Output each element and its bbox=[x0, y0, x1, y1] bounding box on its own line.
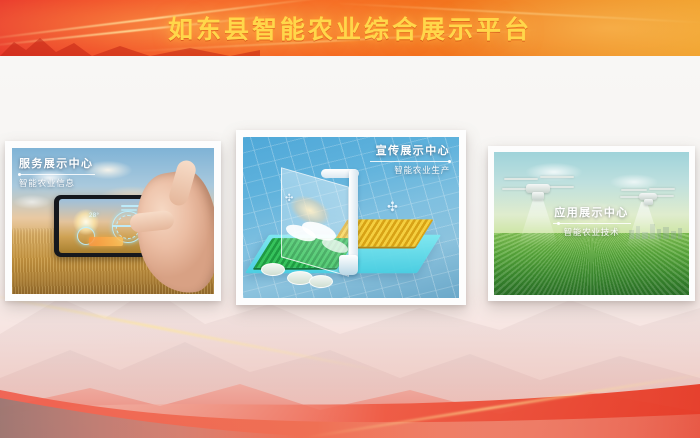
caption-rule bbox=[553, 223, 631, 224]
page-title: 如东县智能农业综合展示平台 bbox=[0, 0, 700, 56]
card-service-center-title: 服务展示中心 bbox=[19, 155, 95, 171]
drone-icon: ✣ bbox=[387, 199, 398, 215]
hud-bar bbox=[121, 209, 137, 211]
hay-bale-graphic bbox=[261, 263, 285, 276]
hay-bale-graphic bbox=[309, 275, 333, 288]
card-publicity-center-title: 宣传展示中心 bbox=[370, 142, 450, 158]
card-application-center[interactable]: 应用展示中心 智能农业技术 bbox=[488, 146, 695, 301]
hud-temperature-label: 28° bbox=[89, 213, 99, 219]
caption-rule bbox=[370, 161, 450, 162]
caption-rule bbox=[19, 174, 95, 175]
light-pole-graphic bbox=[349, 169, 358, 265]
poster-stage: 如东县智能农业综合展示平台 28° bbox=[0, 0, 700, 438]
hud-chip-bar bbox=[89, 237, 123, 246]
card-publicity-center-caption: 宣传展示中心 智能农业生产 bbox=[370, 142, 450, 176]
card-service-center-caption: 服务展示中心 智能农业信息 bbox=[19, 155, 95, 189]
card-publicity-center-subtitle: 智能农业生产 bbox=[370, 164, 450, 176]
drone-large-icon bbox=[502, 174, 578, 204]
card-application-center-caption: 应用展示中心 智能农业技术 bbox=[488, 204, 695, 238]
cloud-graphic bbox=[322, 236, 348, 255]
drone-icon: ✣ bbox=[285, 193, 293, 204]
card-application-center-subtitle: 智能农业技术 bbox=[488, 226, 695, 238]
water-bucket-graphic bbox=[339, 255, 358, 275]
card-publicity-center[interactable]: ✣ ✣ 宣传展示中心 智能农业生产 bbox=[236, 130, 466, 305]
card-application-center-title: 应用展示中心 bbox=[488, 204, 695, 220]
card-service-center-subtitle: 智能农业信息 bbox=[19, 177, 95, 189]
card-service-center[interactable]: 28° 服务展示中心 智能农业信息 bbox=[5, 141, 221, 301]
